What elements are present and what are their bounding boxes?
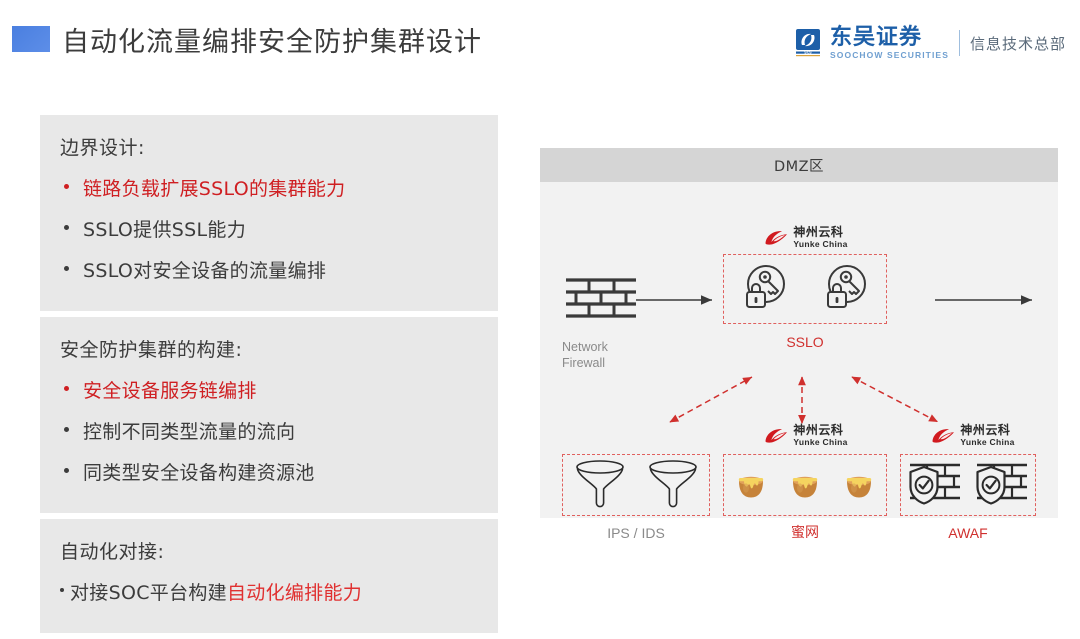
- bullet-text: SSLO对安全设备的流量编排: [83, 256, 326, 283]
- company-brand: SCS 东吴证券 SOOCHOW SECURITIES 信息技术总部: [795, 24, 1066, 62]
- vendor-name-block: 神州云科 Yunke China: [960, 424, 1014, 447]
- yunke-swoosh-icon: [763, 229, 789, 246]
- slide-header: 自动化流量编排安全防护集群设计 SCS 东吴证券 SOOCHOW SECURIT…: [0, 0, 1080, 88]
- honeynet-pool-box: [723, 454, 887, 516]
- bullet-item: 安全设备服务链编排: [60, 376, 498, 403]
- bullet-text: SSLO提供SSL能力: [83, 215, 246, 242]
- bullet-text-highlight: 自动化编排能力: [227, 582, 362, 604]
- panel-heading: 自动化对接:: [60, 537, 498, 564]
- vendor-logo-honeynet: 神州云科 Yunke China: [743, 422, 868, 448]
- dmz-zone-label: DMZ区: [774, 155, 824, 176]
- bullet-text: 同类型安全设备构建资源池: [83, 458, 315, 485]
- bullet-item: SSLO对安全设备的流量编排: [60, 256, 498, 283]
- vendor-name-en: Yunke China: [793, 438, 847, 447]
- panel-security-cluster: 安全防护集群的构建: 安全设备服务链编排 控制不同类型流量的流向 同类型安全设备…: [40, 317, 498, 513]
- sslo-label: SSLO: [723, 334, 887, 352]
- bullet-text: 对接SOC平台构建自动化编排能力: [70, 578, 362, 605]
- panel-automation-integration: 自动化对接: 对接SOC平台构建自动化编排能力: [40, 519, 498, 633]
- ips-ids-label: IPS / IDS: [562, 525, 710, 543]
- bullet-dot-icon: [64, 266, 69, 271]
- bullet-dot-icon: [60, 588, 64, 592]
- honey-pot-icon: [841, 465, 877, 506]
- vendor-name-en: Yunke China: [960, 438, 1014, 447]
- bullet-dot-icon: [64, 427, 69, 432]
- slide-root: 自动化流量编排安全防护集群设计 SCS 东吴证券 SOOCHOW SECURIT…: [0, 0, 1080, 608]
- ips-ids-pool-box: [562, 454, 710, 516]
- panel-boundary-design: 边界设计: 链路负载扩展SSLO的集群能力 SSLO提供SSL能力 SSLO对安…: [40, 115, 498, 311]
- brand-name-en: SOOCHOW SECURITIES: [830, 51, 949, 60]
- vendor-name-block: 神州云科 Yunke China: [793, 424, 847, 447]
- bullet-item: 同类型安全设备构建资源池: [60, 458, 498, 485]
- brand-divider: [959, 30, 960, 56]
- yunke-swoosh-icon: [930, 427, 956, 444]
- honey-pot-icon: [733, 465, 769, 506]
- vendor-name-en: Yunke China: [793, 240, 847, 249]
- firewall-label-line2: Firewall: [562, 356, 664, 372]
- bullet-text-plain: 对接SOC平台构建: [70, 582, 227, 604]
- bullet-item: 对接SOC平台构建自动化编排能力: [58, 578, 498, 605]
- bullet-panels: 边界设计: 链路负载扩展SSLO的集群能力 SSLO提供SSL能力 SSLO对安…: [40, 115, 498, 639]
- yunke-swoosh-icon: [763, 427, 789, 444]
- arrow-sslo-to-awaf: [852, 377, 938, 422]
- funnel-icon: [646, 458, 700, 513]
- shield-brick-wall-icon: [973, 458, 1031, 513]
- bullet-dot-icon: [64, 468, 69, 473]
- brand-department: 信息技术总部: [970, 33, 1066, 54]
- bullet-item: SSLO提供SSL能力: [60, 215, 498, 242]
- key-lock-icon: [737, 259, 793, 320]
- soochow-logo-icon: SCS: [795, 28, 825, 58]
- firewall-label: Network Firewall: [550, 340, 664, 371]
- bullet-dot-icon: [64, 386, 69, 391]
- brand-name-block: 东吴证券 SOOCHOW SECURITIES: [830, 27, 949, 60]
- awaf-pool-box: [900, 454, 1036, 516]
- arrow-sslo-to-ips-ids: [670, 377, 752, 422]
- bullet-dot-icon: [64, 184, 69, 189]
- vendor-name-cn: 神州云科: [960, 424, 1014, 436]
- bullet-dot-icon: [64, 225, 69, 230]
- sslo-pool-box: [723, 254, 887, 324]
- shield-brick-wall-icon: [906, 458, 964, 513]
- key-lock-icon: [818, 259, 874, 320]
- honey-pot-icon: [787, 465, 823, 506]
- architecture-diagram: DMZ区: [540, 148, 1058, 518]
- firewall-label-line1: Network: [562, 340, 664, 356]
- vendor-name-cn: 神州云科: [793, 226, 847, 238]
- bullet-item: 控制不同类型流量的流向: [60, 417, 498, 444]
- vendor-name-block: 神州云科 Yunke China: [793, 226, 847, 249]
- svg-text:SCS: SCS: [804, 50, 812, 54]
- honeynet-label: 蜜网: [723, 525, 887, 543]
- diagram-canvas: Network Firewall 神州云科 Yunke China: [540, 182, 1058, 518]
- dmz-zone-header: DMZ区: [540, 148, 1058, 182]
- page-title: 自动化流量编排安全防护集群设计: [62, 20, 482, 59]
- title-accent-bar: [12, 26, 50, 52]
- brick-wall-icon: [562, 274, 640, 326]
- vendor-logo-sslo: 神州云科 Yunke China: [743, 224, 868, 250]
- bullet-text: 控制不同类型流量的流向: [83, 417, 295, 444]
- panel-heading: 边界设计:: [60, 133, 498, 160]
- awaf-label: AWAF: [900, 525, 1036, 543]
- funnel-icon: [573, 458, 627, 513]
- vendor-name-cn: 神州云科: [793, 424, 847, 436]
- bullet-item: 链路负载扩展SSLO的集群能力: [60, 174, 498, 201]
- vendor-logo-awaf: 神州云科 Yunke China: [910, 422, 1035, 448]
- panel-heading: 安全防护集群的构建:: [60, 335, 498, 362]
- bullet-text: 链路负载扩展SSLO的集群能力: [83, 174, 346, 201]
- brand-name-cn: 东吴证券: [830, 27, 949, 49]
- bullet-text: 安全设备服务链编排: [83, 376, 257, 403]
